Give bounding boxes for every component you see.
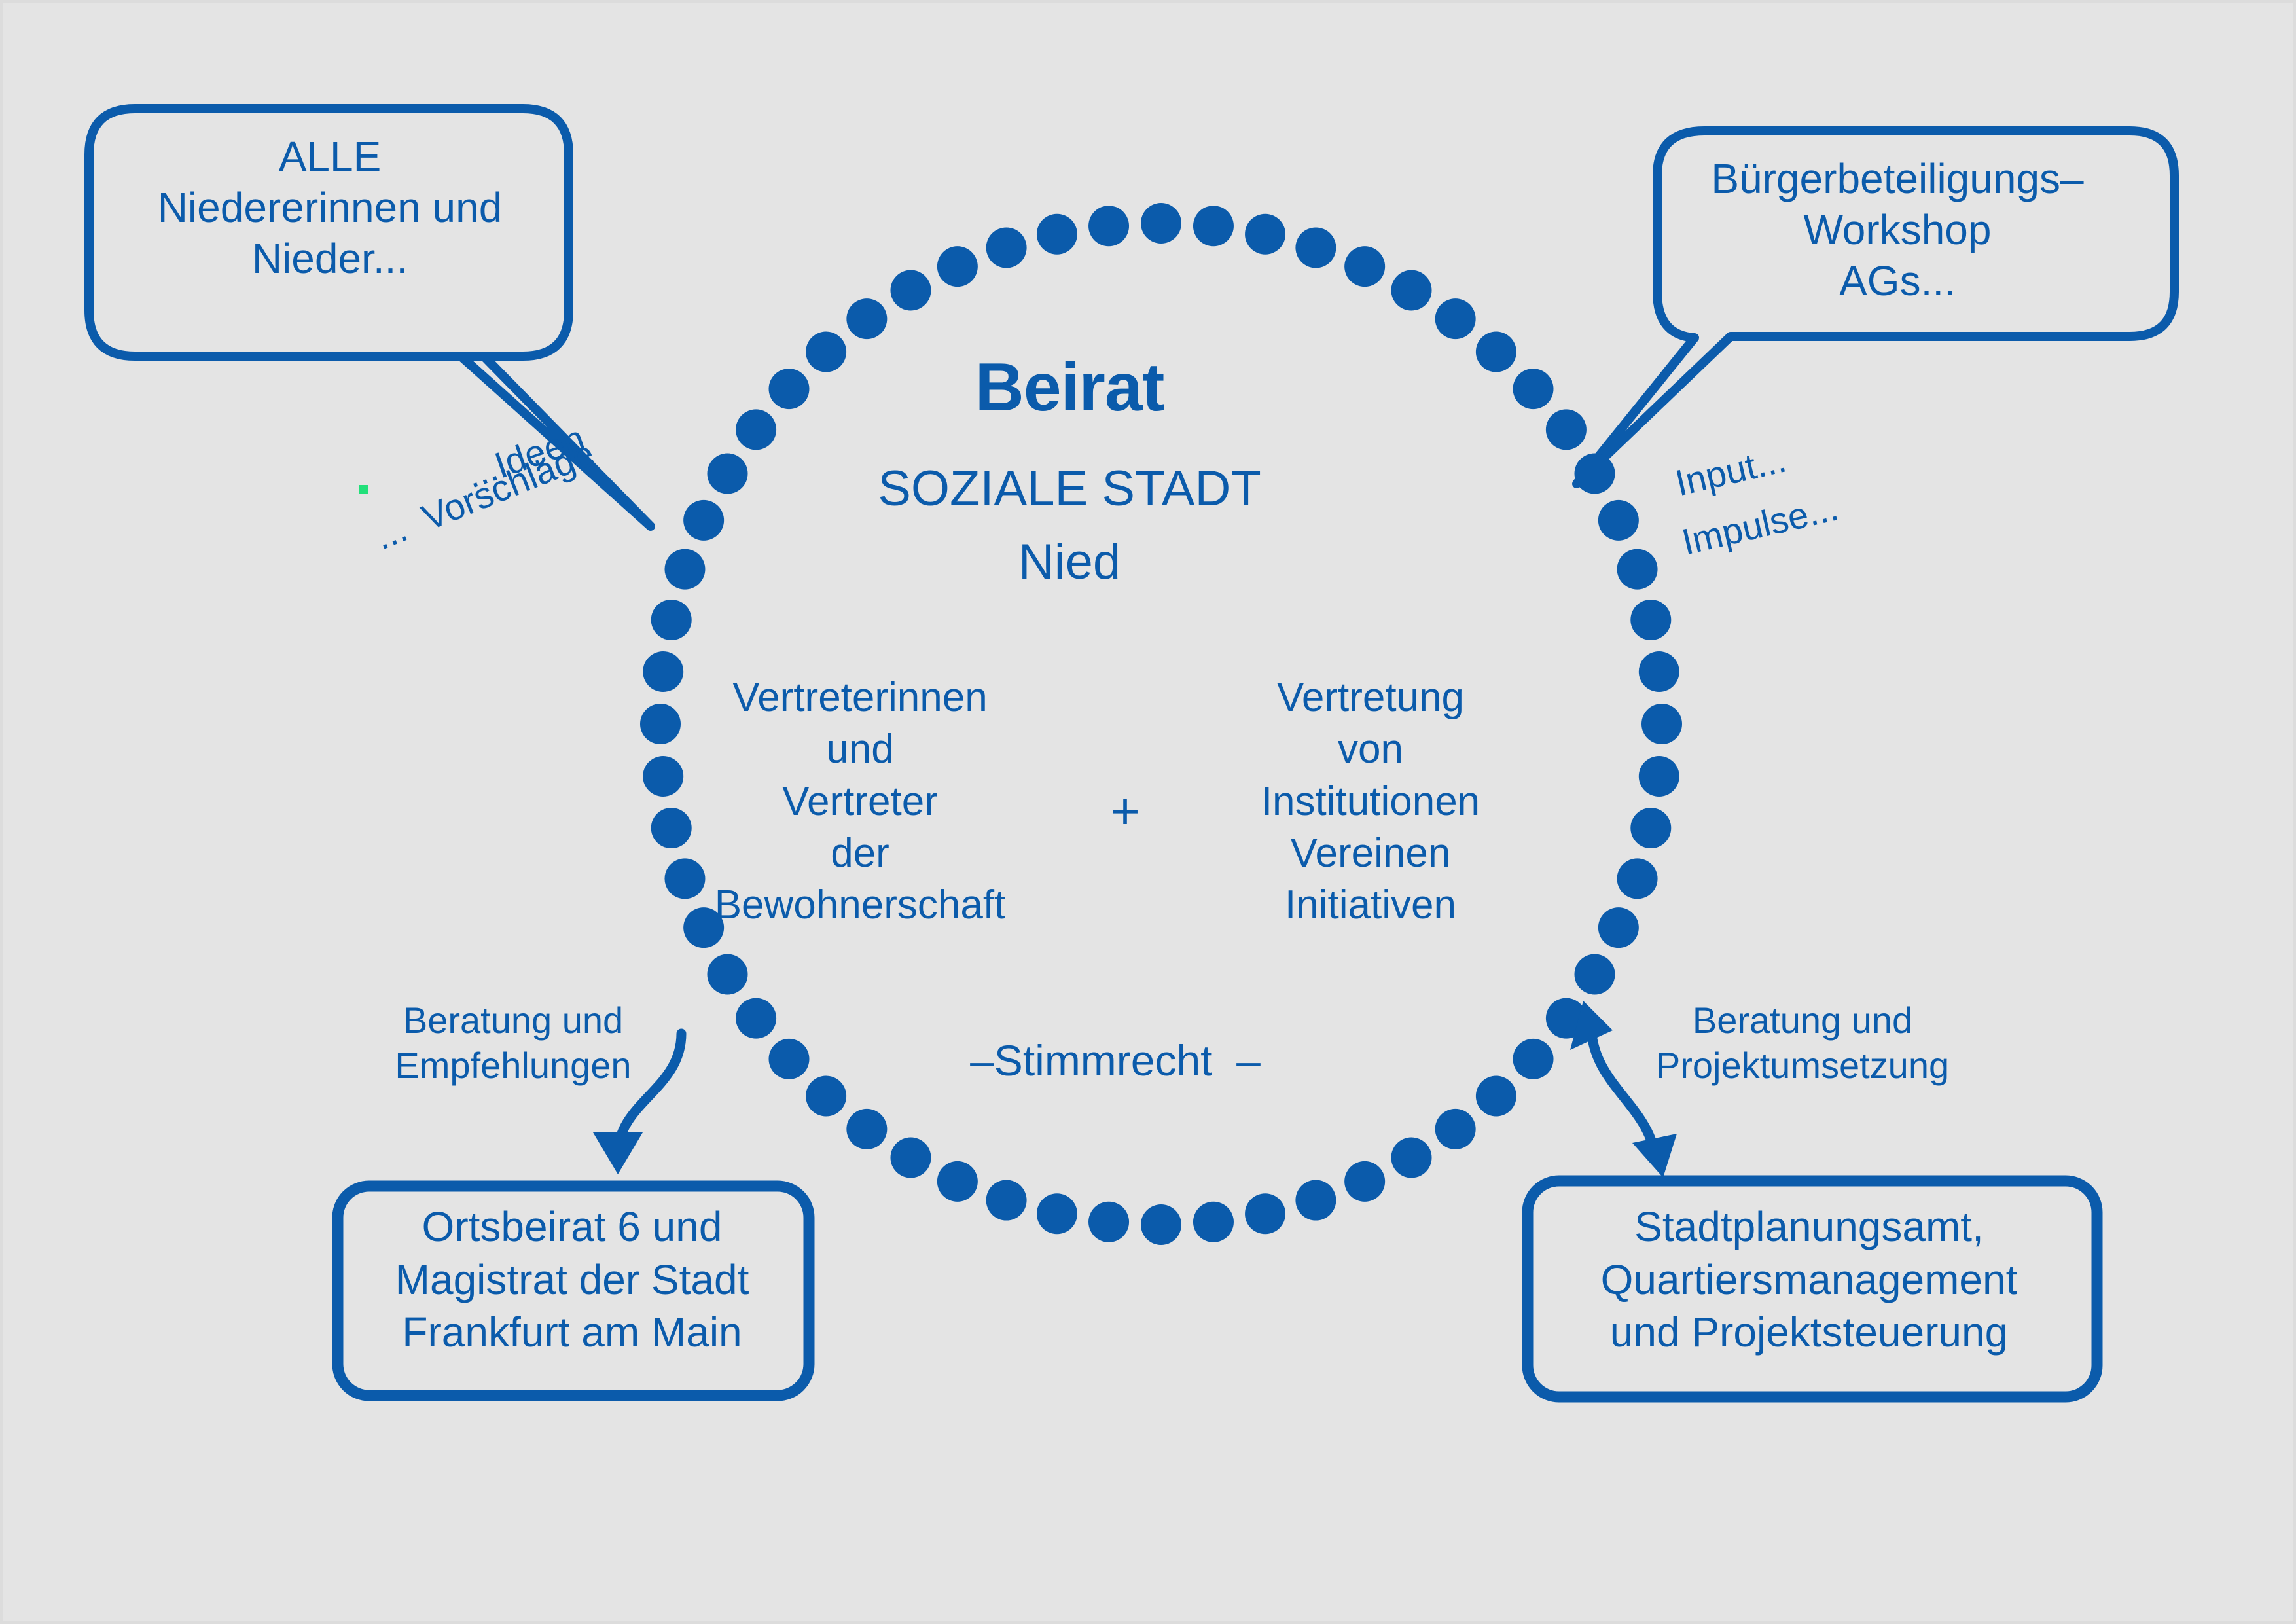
ring-dot — [986, 1180, 1027, 1221]
ring-dot — [1037, 214, 1077, 255]
ring-dot — [1639, 651, 1679, 692]
ring-dot — [1141, 203, 1181, 244]
ring-dot — [1245, 1193, 1285, 1234]
ring-dot — [664, 549, 705, 590]
green-dot-marker — [359, 485, 368, 494]
center-subtitle-line1: SOZIALE STADT — [762, 461, 1377, 516]
ring-dot — [1546, 409, 1587, 450]
ring-dot — [1344, 1161, 1385, 1202]
box-stadtplanungsamt-label: Stadtplanungsamt, Quartiersmanagement un… — [1534, 1200, 2084, 1359]
ring-dot — [1193, 1202, 1234, 1242]
ring-dot — [1295, 227, 1336, 268]
diagram-canvas: ALLE Niedererinnen und Nieder... Bürgerb… — [0, 0, 2296, 1624]
ring-dot — [1088, 1202, 1129, 1242]
ring-dot — [1435, 1109, 1476, 1149]
ring-dot — [846, 298, 887, 339]
ring-dot — [1617, 858, 1658, 899]
ring-dot — [986, 227, 1027, 268]
ring-dot — [891, 1138, 931, 1178]
arrow-label-beratung-projektumsetzung: Beratung und Projektumsetzung — [1632, 998, 1973, 1089]
ring-dot — [768, 1039, 809, 1079]
ring-dot — [1037, 1193, 1077, 1234]
ring-dot — [937, 246, 978, 287]
ring-dot — [1088, 206, 1129, 246]
ring-dot — [1476, 331, 1516, 372]
ring-dot — [1295, 1180, 1336, 1221]
ring-dot — [1344, 246, 1385, 287]
center-column-left: Vertreterinnen und Vertreter der Bewohne… — [657, 672, 1063, 931]
center-subtitle-line2: Nied — [762, 534, 1377, 590]
arrow-label-beratung-empfehlungen: Beratung und Empfehlungen — [350, 998, 677, 1089]
ring-dot — [1641, 704, 1682, 744]
stimmrecht-note: –Stimmrecht – — [880, 1037, 1351, 1085]
ring-dot — [1598, 500, 1639, 541]
ring-dot — [683, 500, 724, 541]
ring-dot — [1598, 907, 1639, 948]
ring-dot — [707, 454, 747, 494]
ring-dot — [806, 1076, 846, 1117]
ring-dot — [707, 954, 747, 995]
ring-dot — [937, 1161, 978, 1202]
ring-dot — [1575, 454, 1615, 494]
ring-dot — [891, 270, 931, 310]
ring-dot — [1476, 1076, 1516, 1117]
ring-dot — [1513, 1039, 1554, 1079]
speech-bubble-top-left-label: ALLE Niedererinnen und Nieder... — [107, 131, 552, 284]
ring-dot — [736, 998, 776, 1039]
ring-dot — [846, 1109, 887, 1149]
ring-dot — [1193, 206, 1234, 246]
ring-dot — [1639, 756, 1679, 797]
ring-dot — [1391, 270, 1432, 310]
ring-dot — [1245, 214, 1285, 255]
ring-dot — [1141, 1204, 1181, 1245]
ring-dot — [1575, 954, 1615, 995]
ring-dot — [651, 600, 692, 640]
speech-bubble-top-right-label: Bürgerbeteiligungs– Workshop AGs... — [1668, 153, 2126, 306]
plus-symbol: + — [1083, 783, 1168, 840]
ring-dot — [1513, 369, 1554, 409]
page-title: Beirat — [762, 350, 1377, 425]
ring-dot — [1630, 600, 1671, 640]
ring-dot — [1630, 808, 1671, 848]
box-ortsbeirat-label: Ortsbeirat 6 und Magistrat der Stadt Fra… — [343, 1200, 801, 1359]
center-column-right: Vertretung von Institutionen Vereinen In… — [1187, 672, 1554, 931]
ring-dot — [1435, 298, 1476, 339]
ring-dot — [1617, 549, 1658, 590]
ring-dot — [1391, 1138, 1432, 1178]
